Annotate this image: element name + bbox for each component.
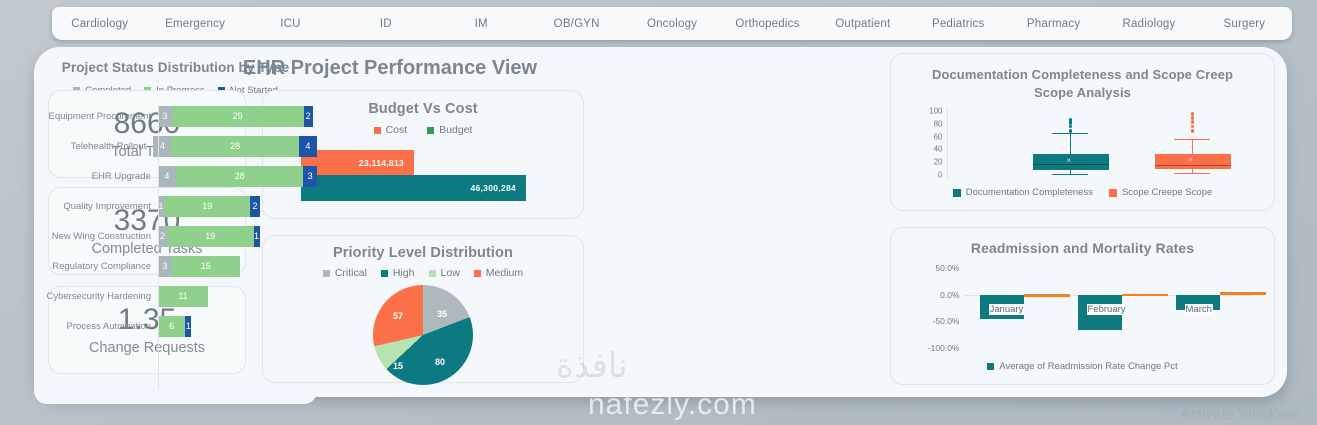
- legend-item-high[interactable]: High: [381, 267, 415, 279]
- bar-segment-completed[interactable]: 3: [158, 256, 172, 277]
- bar-segment-notstarted[interactable]: 3: [303, 166, 317, 187]
- axis-line: [158, 105, 159, 390]
- legend-label: Scope Creepe Scope: [1122, 187, 1212, 198]
- x-axis-category-label: February: [1087, 304, 1127, 315]
- bar-segment-notstarted[interactable]: 2: [250, 196, 259, 217]
- tab-id[interactable]: ID: [338, 18, 433, 30]
- outlier-point: [1191, 129, 1195, 133]
- tab-cardiology[interactable]: Cardiology: [52, 18, 147, 30]
- legend-label: Medium: [486, 267, 523, 279]
- median-line: [1155, 165, 1231, 167]
- status-row[interactable]: Regulatory Compliance315: [40, 255, 317, 277]
- bar-segment-inprogress[interactable]: 19: [164, 196, 250, 217]
- legend-swatch: [381, 270, 388, 277]
- status-row-label: Process Automation: [40, 321, 158, 332]
- box-plot-group[interactable]: ×: [1033, 107, 1109, 179]
- dashboard-screenshot: CardiologyEmergencyICUIDIMOB/GYNOncology…: [0, 0, 1317, 425]
- y-axis-tick-label: 20: [934, 158, 943, 167]
- axis-line: [947, 107, 948, 179]
- y-axis-tick-label: 0.0%: [908, 290, 960, 300]
- bar-segment-inprogress[interactable]: 19: [167, 226, 253, 247]
- department-tab-bar: CardiologyEmergencyICUIDIMOB/GYNOncology…: [52, 7, 1292, 40]
- tab-icu[interactable]: ICU: [243, 18, 338, 30]
- status-row-label: Telehealth Rollout: [40, 141, 153, 152]
- status-row-label: Cybersecurity Hardening: [40, 291, 158, 302]
- bar-segment-inprogress[interactable]: 29: [172, 106, 304, 127]
- legend-label: Average of Readmission Rate Change Pct: [999, 361, 1177, 372]
- bar-value-label: 46,300,284: [470, 183, 516, 193]
- whisker-cap-min: [1052, 174, 1088, 175]
- legend-item-budget[interactable]: Budget: [427, 124, 472, 136]
- status-row[interactable]: New Wing Construction2191: [40, 225, 317, 247]
- bar-segment-inprogress[interactable]: 6: [158, 316, 185, 337]
- legend-item-critical[interactable]: Critical: [323, 267, 367, 279]
- bar-segment-completed[interactable]: 3: [158, 106, 172, 127]
- legend-swatch: [953, 189, 961, 197]
- status-row-label: EHR Upgrade: [40, 171, 158, 182]
- chart-title: Readmission and Mortality Rates: [891, 240, 1274, 256]
- bar-budget[interactable]: 46,300,284: [301, 175, 526, 201]
- legend-swatch: [374, 127, 381, 134]
- legend-item-low[interactable]: Low: [429, 267, 460, 279]
- legend-swatch: [987, 363, 994, 370]
- y-axis-tick-label: -100.0%: [908, 343, 960, 353]
- box-plot-group[interactable]: ×: [1155, 107, 1231, 179]
- chart-legend: Average of Readmission Rate Change Pct: [891, 361, 1274, 372]
- legend-swatch: [1109, 189, 1117, 197]
- dashboard-canvas: EHR Project Performance View 8660 Total …: [34, 47, 1287, 397]
- mean-marker: ×: [1189, 155, 1194, 164]
- outlier-point: [1069, 125, 1073, 129]
- tab-emergency[interactable]: Emergency: [147, 18, 242, 30]
- legend-label: Documentation Completeness: [966, 187, 1093, 198]
- chart-plot-area: 35 80 15 57: [373, 285, 473, 385]
- stacked-bar: 61: [158, 316, 191, 337]
- status-row[interactable]: Telehealth Rollout4284: [40, 135, 317, 157]
- x-axis-category-label: March: [1185, 304, 1213, 315]
- legend-label: Low: [441, 267, 460, 279]
- bar-cost[interactable]: 23,114,813: [301, 150, 414, 175]
- bar-segment-inprogress[interactable]: 11: [158, 286, 208, 307]
- y-axis-tick-label: 80: [934, 119, 943, 128]
- y-axis-tick-label: 40: [934, 145, 943, 154]
- legend-swatch: [323, 270, 330, 277]
- mean-marker: ×: [1067, 156, 1072, 165]
- chart-plot-area: 100806040200 ××: [913, 107, 1253, 185]
- y-axis-tick-label: 100: [929, 107, 942, 116]
- status-row[interactable]: Process Automation61: [40, 315, 317, 337]
- whisker-cap-max: [1052, 133, 1088, 134]
- chart-title: Documentation Completeness and Scope Cre…: [915, 66, 1250, 101]
- status-row-label: Regulatory Compliance: [40, 261, 158, 272]
- bar-mortality-march[interactable]: [1220, 292, 1266, 295]
- legend-label: Critical: [335, 267, 367, 279]
- bar-segment-notstarted[interactable]: 4: [299, 136, 317, 157]
- stacked-bar: 4284: [153, 136, 317, 157]
- status-row[interactable]: Cybersecurity Hardening11: [40, 285, 317, 307]
- tab-pediatrics[interactable]: Pediatrics: [911, 18, 1006, 30]
- status-row-label: Equipment Procurement: [40, 111, 158, 122]
- x-axis-category-label: January: [989, 304, 1025, 315]
- pie-label-medium: 57: [393, 311, 403, 321]
- legend-item-scope-creep[interactable]: Scope Creepe Scope: [1109, 187, 1212, 198]
- chart-documentation-scope-box-plot[interactable]: Documentation Completeness and Scope Cre…: [890, 53, 1275, 211]
- tab-surgery[interactable]: Surgery: [1197, 18, 1292, 30]
- stacked-bar: 315: [158, 256, 240, 277]
- legend-label: High: [393, 267, 415, 279]
- chart-plot-area: Equipment Procurement3292Telehealth Roll…: [34, 105, 317, 337]
- stacked-bar: 3292: [158, 106, 313, 127]
- bar-value-label: 23,114,813: [359, 158, 404, 168]
- pie-label-high: 80: [435, 357, 445, 367]
- stacked-bar: 1192: [158, 196, 260, 217]
- bar-mortality-january[interactable]: [1024, 294, 1070, 297]
- legend-item-readmission-rate[interactable]: Average of Readmission Rate Change Pct: [987, 361, 1177, 372]
- legend-item-documentation-completeness[interactable]: Documentation Completeness: [953, 187, 1093, 198]
- tab-im[interactable]: IM: [434, 18, 529, 30]
- bar-segment-inprogress[interactable]: 28: [171, 136, 298, 157]
- y-axis-tick-label: 0: [938, 171, 942, 180]
- status-row-label: New Wing Construction: [40, 231, 158, 242]
- tab-ob-gyn[interactable]: OB/GYN: [529, 18, 624, 30]
- status-row-label: Quality Improvement: [40, 201, 158, 212]
- bar-segment-notstarted[interactable]: 1: [254, 226, 260, 247]
- bar-segment-completed[interactable]: 2: [158, 226, 167, 247]
- y-axis-tick-label: 50.0%: [908, 263, 960, 273]
- legend-swatch: [427, 127, 434, 134]
- outlier-point: [1191, 116, 1195, 120]
- y-axis-tick-label: 60: [934, 132, 943, 141]
- pie-chart[interactable]: [373, 285, 473, 385]
- chart-legend: Documentation Completeness Scope Creepe …: [891, 187, 1274, 198]
- status-row[interactable]: Equipment Procurement3292: [40, 105, 317, 127]
- bar-segment-inprogress[interactable]: 28: [176, 166, 303, 187]
- watermark-activate-windows: Activate Windows: [1181, 406, 1299, 423]
- legend-label: Budget: [439, 124, 472, 136]
- whisker-cap-max: [1174, 139, 1210, 140]
- pie-label-critical: 35: [437, 309, 447, 319]
- bar-segment-notstarted[interactable]: 2: [304, 106, 313, 127]
- legend-item-cost[interactable]: Cost: [374, 124, 408, 136]
- page-title: EHR Project Performance View: [130, 57, 650, 80]
- bar-mortality-february[interactable]: [1122, 294, 1168, 297]
- kpi-label: Change Requests: [89, 340, 205, 356]
- stacked-bar: 4283: [158, 166, 317, 187]
- tab-oncology[interactable]: Oncology: [624, 18, 719, 30]
- bar-segment-notstarted[interactable]: 1: [185, 316, 191, 337]
- tab-radiology[interactable]: Radiology: [1101, 18, 1196, 30]
- pie-label-low: 15: [393, 361, 403, 371]
- status-row[interactable]: Quality Improvement1192: [40, 195, 317, 217]
- chart-plot-area: 23,114,813 46,300,284: [301, 150, 551, 202]
- tab-orthopedics[interactable]: Orthopedics: [720, 18, 815, 30]
- outlier-point: [1069, 118, 1073, 122]
- y-axis-tick-label: -50.0%: [908, 316, 960, 326]
- y-axis-ticks: 100806040200: [913, 107, 943, 179]
- legend-label: Cost: [386, 124, 408, 136]
- chart-plot-area: 50.0%0.0%-50.0%-100.0%JanuaryFebruaryMar…: [908, 262, 1258, 360]
- legend-item-medium[interactable]: Medium: [474, 267, 523, 279]
- chart-readmission-mortality-rates[interactable]: Readmission and Mortality Rates 50.0%0.0…: [890, 227, 1275, 385]
- outlier-point: [1069, 129, 1073, 133]
- bar-segment-inprogress[interactable]: 15: [172, 256, 240, 277]
- outlier-point: [1191, 120, 1195, 124]
- status-row[interactable]: EHR Upgrade4283: [40, 165, 317, 187]
- legend-swatch: [429, 270, 436, 277]
- bar-segment-completed[interactable]: 4: [153, 136, 171, 157]
- stacked-bar: 11: [158, 286, 208, 307]
- tab-outpatient[interactable]: Outpatient: [815, 18, 910, 30]
- whisker-cap-min: [1174, 173, 1210, 174]
- stacked-bar: 2191: [158, 226, 260, 247]
- tab-pharmacy[interactable]: Pharmacy: [1006, 18, 1101, 30]
- outlier-point: [1191, 112, 1195, 116]
- legend-swatch: [474, 270, 481, 277]
- outlier-point: [1191, 125, 1195, 129]
- bar-segment-completed[interactable]: 4: [158, 166, 176, 187]
